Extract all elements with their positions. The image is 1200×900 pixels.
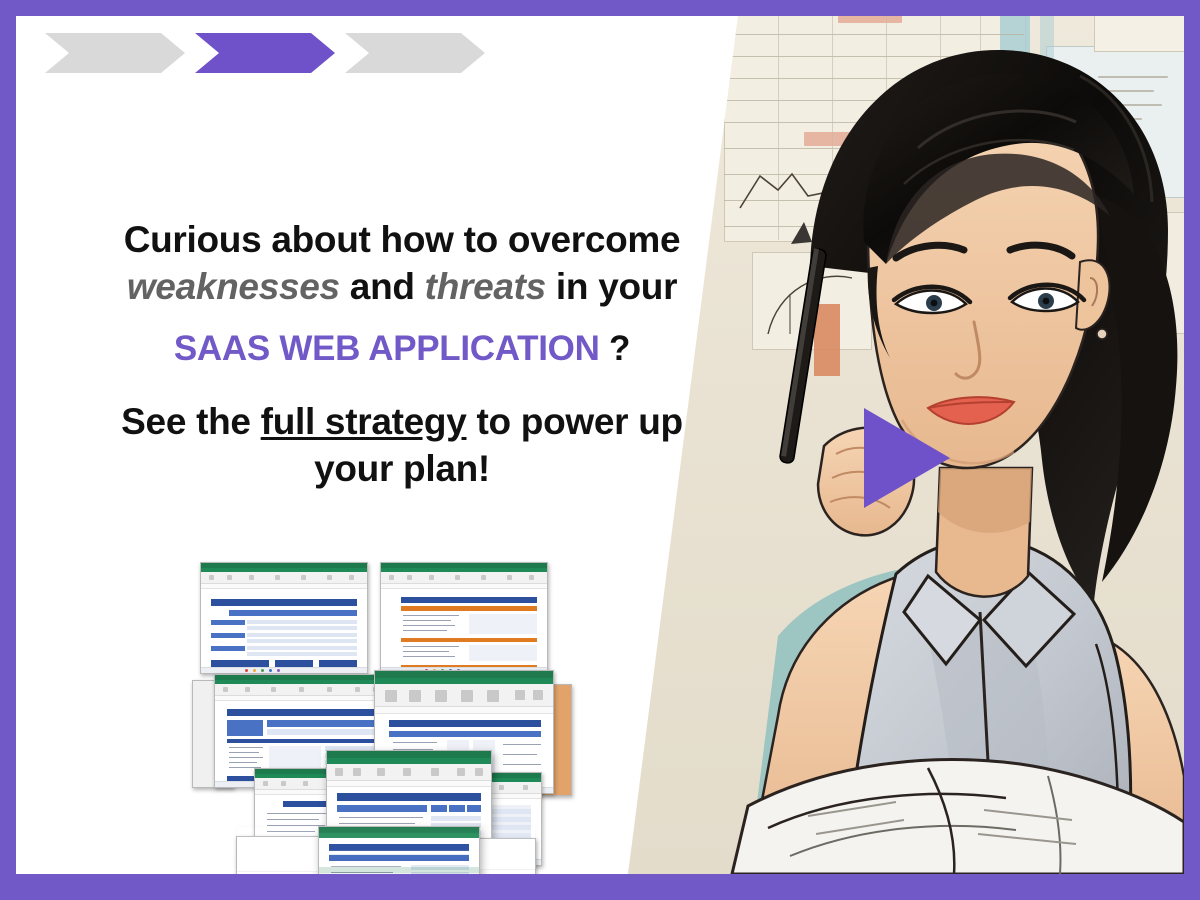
sheet-title-bar — [375, 671, 553, 678]
progress-chevron-strip — [45, 33, 485, 73]
sheet-grid — [319, 838, 479, 874]
sheet-ribbon — [201, 572, 367, 584]
sheet-ribbon — [327, 764, 491, 781]
thumbnail-sheet[interactable] — [380, 562, 548, 674]
headline-line-2-tail: in your — [546, 266, 677, 307]
sheet-status-bar — [201, 667, 367, 673]
thumbnail-sheet-bottom[interactable] — [318, 826, 480, 874]
headline-full-strategy-link[interactable]: full strategy — [261, 401, 467, 442]
headline-threats: threats — [425, 266, 546, 307]
progress-step-2-active[interactable] — [195, 33, 335, 73]
progress-step-3[interactable] — [345, 33, 485, 73]
headline-block: Curious about how to overcome weaknesses… — [66, 216, 738, 492]
thumbnail-sheet[interactable] — [200, 562, 368, 674]
sheet-title-bar — [327, 751, 491, 758]
headline-weaknesses: weaknesses — [127, 266, 340, 307]
sheet-grid — [201, 589, 367, 674]
slide-root: Curious about how to overcome weaknesses… — [0, 0, 1200, 900]
headline-line-5: your plan! — [66, 445, 738, 492]
sheet-grid — [381, 589, 547, 674]
headline-and: and — [340, 266, 425, 307]
pen-icon — [779, 222, 827, 464]
headline-line-3: SAAS WEB APPLICATION ? — [66, 327, 738, 372]
slide-canvas: Curious about how to overcome weaknesses… — [16, 16, 1184, 874]
headline-see-the: See the — [121, 401, 261, 442]
progress-step-1[interactable] — [45, 33, 185, 73]
excel-template-collage[interactable] — [176, 544, 576, 874]
sheet-ribbon — [215, 684, 387, 696]
sheet-ribbon — [381, 572, 547, 584]
headline-line-4-tail: to power up — [467, 401, 683, 442]
earring — [1097, 329, 1107, 339]
headline-line-4: See the full strategy to power up — [66, 398, 738, 445]
sheet-ribbon — [375, 684, 553, 707]
sheet-formula-bar — [375, 707, 553, 714]
headline-question-mark: ? — [600, 329, 631, 368]
headline-line-1: Curious about how to overcome — [66, 216, 738, 263]
headline-saas-web-application: SAAS WEB APPLICATION — [174, 329, 600, 368]
headline-line-2: weaknesses and threats in your — [66, 263, 738, 310]
